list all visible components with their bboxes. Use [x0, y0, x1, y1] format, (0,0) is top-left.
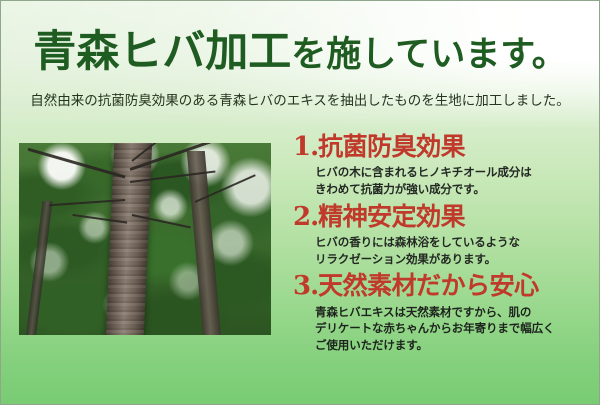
benefit-label: 精神安定効果: [318, 202, 465, 231]
benefit-number: 2.: [293, 202, 318, 232]
benefit-heading: 3.天然素材だから安心: [293, 273, 593, 300]
benefit-item-1: 1.抗菌防臭効果 ヒバの木に含まれるヒノキチオール成分は きわめて抗菌力が強い成…: [293, 134, 593, 198]
benefit-item-3: 3.天然素材だから安心 青森ヒバエキスは天然素材ですから、肌の デリケートな赤ち…: [293, 273, 593, 353]
benefit-list: 1.抗菌防臭効果 ヒバの木に含まれるヒノキチオール成分は きわめて抗菌力が強い成…: [293, 134, 593, 360]
benefit-description: 青森ヒバエキスは天然素材ですから、肌の デリケートな赤ちゃんからお年寄りまで幅広…: [315, 304, 593, 354]
banner-content: 青森ヒバ加工を施しています。 自然由来の抗菌防臭効果のある青森ヒバのエキスを抽出…: [1, 1, 599, 404]
page-subtitle: 自然由来の抗菌防臭効果のある青森ヒバのエキスを抽出したものを生地に加工しました。: [1, 89, 599, 109]
benefit-heading: 2.精神安定効果: [293, 204, 593, 231]
hiba-tree-photo-image: [19, 143, 271, 335]
benefit-item-2: 2.精神安定効果 ヒバの香りには森林浴をしているような リラクゼーション効果があ…: [293, 204, 593, 268]
tree-trunk-background-left: [26, 201, 53, 335]
benefit-description: ヒバの木に含まれるヒノキチオール成分は きわめて抗菌力が強い成分です。: [315, 164, 593, 197]
benefit-label: 抗菌防臭効果: [318, 132, 465, 161]
page-title-primary: 青森ヒバ加工: [33, 27, 291, 77]
page-title-suffix: を施しています。: [291, 34, 566, 75]
hiba-tree-photo: [19, 143, 271, 335]
benefit-number: 3.: [293, 271, 318, 301]
benefit-description: ヒバの香りには森林浴をしているような リラクゼーション効果があります。: [315, 234, 593, 267]
page-title: 青森ヒバ加工を施しています。: [1, 31, 599, 74]
benefit-number: 1.: [293, 132, 318, 162]
tree-trunk-background-right: [187, 151, 221, 335]
hiba-promo-banner: 青森ヒバ加工を施しています。 自然由来の抗菌防臭効果のある青森ヒバのエキスを抽出…: [0, 0, 600, 405]
benefit-label: 天然素材だから安心: [318, 271, 539, 300]
tree-branch: [28, 148, 126, 178]
benefit-heading: 1.抗菌防臭効果: [293, 134, 593, 161]
